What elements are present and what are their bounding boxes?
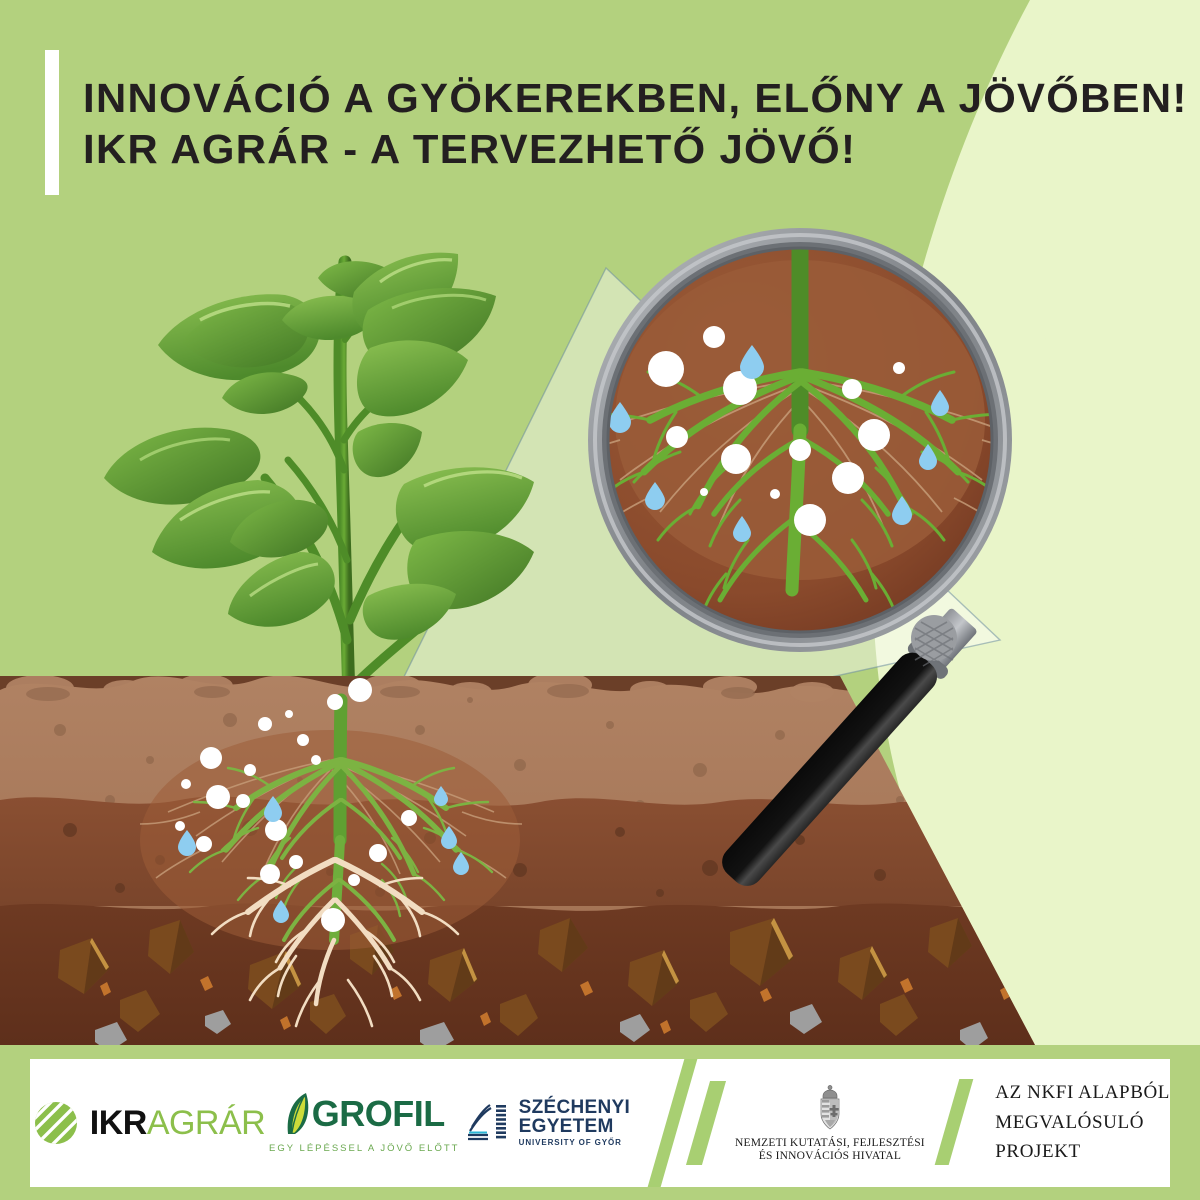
leaf-icon xyxy=(284,1092,314,1136)
logo-szechenyi-egyetem[interactable]: SZÉCHENYI EGYETEM UNIVERSITY OF GYŐR xyxy=(459,1059,636,1187)
footer: IKRAGRÁR GROFIL EGY LÉPÉSSEL A JÖVŐ ELŐT… xyxy=(0,1045,1200,1200)
nkfi-project-note: AZ NKFI ALAPBÓL MEGVALÓSULÓ PROJEKT xyxy=(985,1078,1170,1166)
headline-line-2: IKR AGRÁR - A TERVEZHETŐ JÖVŐ! xyxy=(83,129,1188,170)
project-note-line-1: AZ NKFI ALAPBÓL xyxy=(995,1078,1170,1107)
bridge-lines-icon xyxy=(466,1101,510,1145)
ikr-text-green: AGRÁR xyxy=(147,1104,265,1142)
footer-separator-2 xyxy=(933,1059,986,1187)
headline: INNOVÁCIÓ A GYÖKEREKBEN, ELŐNY A JÖVŐBEN… xyxy=(45,50,1165,195)
headline-line-1: INNOVÁCIÓ A GYÖKEREKBEN, ELŐNY A JÖVŐBEN… xyxy=(83,78,1188,119)
logo-ikr-agrar[interactable]: IKRAGRÁR xyxy=(30,1059,269,1187)
logo-agrofil[interactable]: GROFIL EGY LÉPÉSSEL A JÖVŐ ELŐTT xyxy=(269,1059,459,1187)
ikr-wordmark: IKRAGRÁR xyxy=(90,1106,265,1140)
szechenyi-line-1: SZÉCHENYI xyxy=(519,1098,630,1117)
nkfi-line-1: NEMZETI KUTATÁSI, FEJLESZTÉSI xyxy=(735,1137,925,1149)
headline-accent-bar xyxy=(45,50,59,195)
szechenyi-line-2: EGYETEM xyxy=(519,1117,630,1136)
szechenyi-line-3: UNIVERSITY OF GYŐR xyxy=(519,1139,630,1147)
agrofil-wordmark: GROFIL xyxy=(312,1096,445,1132)
slash-bar-short xyxy=(686,1081,726,1165)
hungarian-coat-of-arms-icon xyxy=(811,1083,849,1133)
nkfi-line-2: ÉS INNOVÁCIÓS HIVATAL xyxy=(759,1150,901,1162)
poster: INNOVÁCIÓ A GYÖKEREKBEN, ELŐNY A JÖVŐBEN… xyxy=(0,0,1200,1200)
agrofil-tagline: EGY LÉPÉSSEL A JÖVŐ ELŐTT xyxy=(269,1143,459,1154)
footer-logo-bar: IKRAGRÁR GROFIL EGY LÉPÉSSEL A JÖVŐ ELŐT… xyxy=(30,1059,1170,1187)
striped-circle-icon xyxy=(34,1101,78,1145)
footer-separator-1 xyxy=(636,1059,727,1187)
ikr-text-black: IKR xyxy=(90,1104,147,1142)
slash-bar-mid xyxy=(934,1079,973,1165)
logo-nkfi[interactable]: NEMZETI KUTATÁSI, FEJLESZTÉSI ÉS INNOVÁC… xyxy=(727,1059,933,1187)
project-note-line-2: MEGVALÓSULÓ xyxy=(995,1108,1170,1137)
slash-bar-tall xyxy=(648,1059,698,1187)
project-note-line-3: PROJEKT xyxy=(995,1137,1170,1166)
